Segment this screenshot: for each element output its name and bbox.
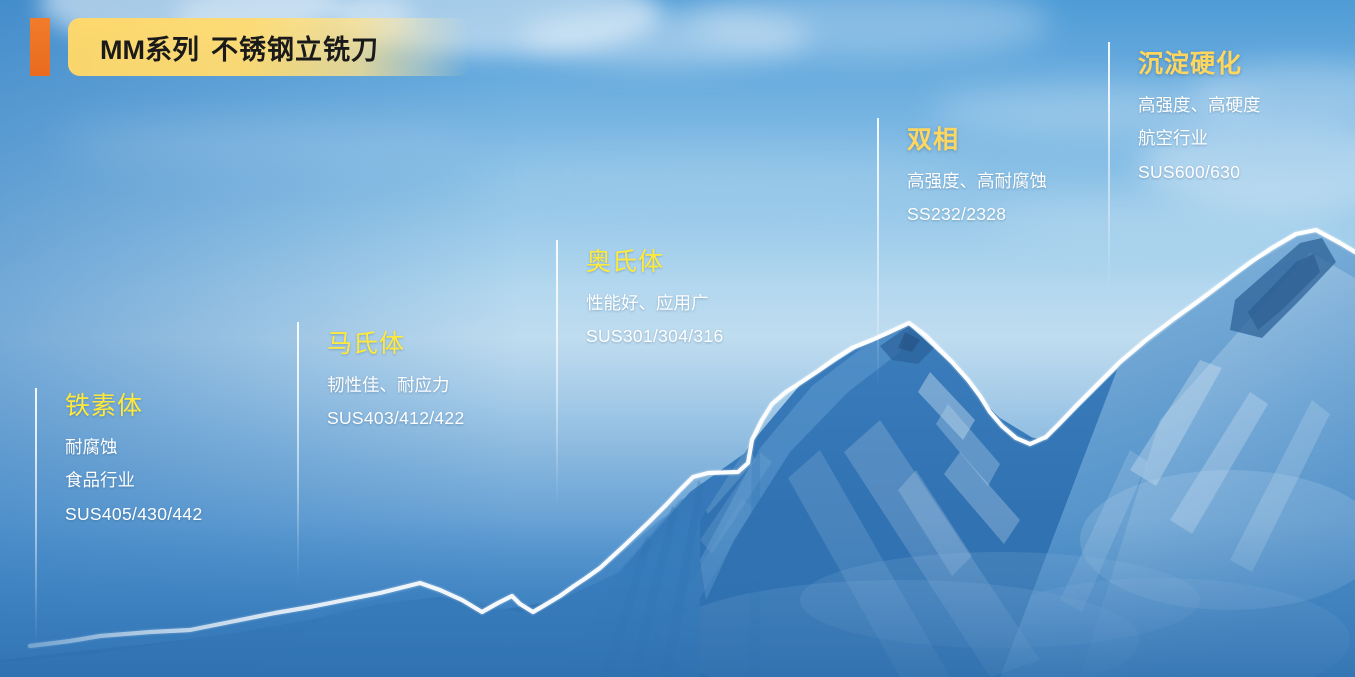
header-title-block: MM系列不锈钢立铣刀 (30, 18, 470, 76)
callout-line-martensitic-1: SUS403/412/422 (327, 410, 465, 428)
callout-divider-precipitation-hardening (1108, 42, 1110, 294)
callout-heading-martensitic: 马氏体 (327, 330, 465, 359)
callout-group-duplex: 双相高强度、高耐腐蚀SS232/2328 (877, 118, 1047, 224)
callout-heading-duplex: 双相 (907, 126, 1047, 155)
header-title-sub: 不锈钢立铣刀 (211, 35, 379, 65)
callout-line-austenitic-1: SUS301/304/316 (586, 328, 724, 346)
infographic-stage: MM系列不锈钢立铣刀 铁素体耐腐蚀食品行业SUS405/430/442马氏体韧性… (0, 0, 1355, 677)
callout-heading-ferritic: 铁素体 (65, 392, 203, 421)
callout-group-ferritic: 铁素体耐腐蚀食品行业SUS405/430/442 (35, 388, 203, 523)
callout-line-precipitation-hardening-1: 航空行业 (1138, 130, 1261, 148)
callout-divider-ferritic (35, 388, 37, 646)
callout-line-ferritic-1: 食品行业 (65, 472, 203, 490)
callout-line-duplex-0: 高强度、高耐腐蚀 (907, 173, 1047, 191)
callout-body-duplex: 双相高强度、高耐腐蚀SS232/2328 (907, 118, 1047, 224)
callout-heading-precipitation-hardening: 沉淀硬化 (1138, 50, 1261, 79)
callout-body-austenitic: 奥氏体性能好、应用广SUS301/304/316 (586, 240, 724, 346)
callout-divider-martensitic (297, 322, 299, 584)
callout-group-austenitic: 奥氏体性能好、应用广SUS301/304/316 (556, 240, 724, 346)
header-accent-bar (30, 18, 50, 76)
callout-line-ferritic-2: SUS405/430/442 (65, 506, 203, 524)
callout-divider-austenitic (556, 240, 558, 508)
callout-heading-austenitic: 奥氏体 (586, 248, 724, 277)
header-title-main: MM系列 (100, 35, 199, 65)
callout-body-martensitic: 马氏体韧性佳、耐应力SUS403/412/422 (327, 322, 465, 428)
callout-body-precipitation-hardening: 沉淀硬化高强度、高硬度航空行业SUS600/630 (1138, 42, 1261, 181)
callout-body-ferritic: 铁素体耐腐蚀食品行业SUS405/430/442 (65, 388, 203, 523)
callout-line-precipitation-hardening-0: 高强度、高硬度 (1138, 97, 1261, 115)
callout-line-duplex-1: SS232/2328 (907, 206, 1047, 224)
callout-divider-duplex (877, 118, 879, 386)
callout-line-austenitic-0: 性能好、应用广 (586, 295, 724, 313)
callout-group-precipitation-hardening: 沉淀硬化高强度、高硬度航空行业SUS600/630 (1108, 42, 1261, 181)
callout-line-martensitic-0: 韧性佳、耐应力 (327, 377, 465, 395)
callout-line-ferritic-0: 耐腐蚀 (65, 439, 203, 457)
callout-group-martensitic: 马氏体韧性佳、耐应力SUS403/412/422 (297, 322, 465, 428)
callout-line-precipitation-hardening-2: SUS600/630 (1138, 164, 1261, 182)
header-title-text: MM系列不锈钢立铣刀 (100, 28, 379, 67)
header-title-pill: MM系列不锈钢立铣刀 (68, 18, 470, 76)
